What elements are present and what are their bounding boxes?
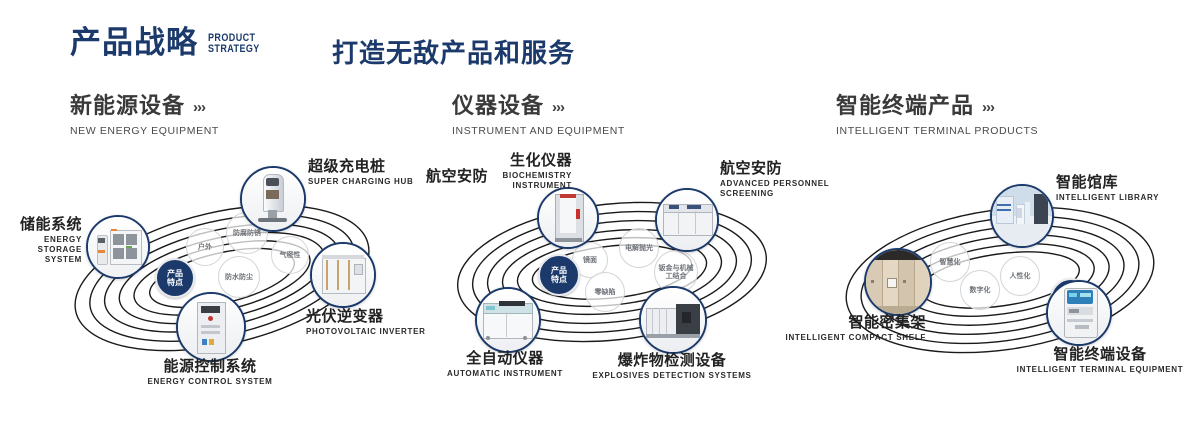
infographic-canvas: 产品战略 PRODUCT STRATEGY 打造无敌产品和服务 新能源设备 ››… (0, 0, 1200, 422)
node-automatic-instrument[interactable] (475, 287, 541, 353)
section-heading-instrument: 仪器设备 ››› INSTRUMENT AND EQUIPMENT (452, 96, 625, 137)
page-title-cn: 产品战略 (70, 28, 198, 59)
node-explosives-detector[interactable] (639, 286, 707, 354)
feature-bubble: 人性化 (1000, 256, 1040, 296)
label-compact-shelf: 智能密集架 INTELLIGENT COMPACT SHELF (766, 314, 926, 343)
label-explosives-detector: 爆炸物检测设备 EXPLOSIVES DETECTION SYSTEMS (582, 352, 762, 381)
product-feature-badge: 产品特点 (538, 254, 580, 296)
node-biochemistry-instrument[interactable] (537, 187, 599, 249)
page-subtitle: 打造无敌产品和服务 (332, 33, 575, 70)
page-title: 产品战略 PRODUCT STRATEGY (70, 28, 271, 59)
node-advanced-personnel-screening[interactable] (655, 188, 719, 252)
section-title-en: INSTRUMENT AND EQUIPMENT (452, 125, 625, 137)
chevrons-icon: ››› (552, 99, 564, 116)
label-terminal-kiosk: 智能终端设备 INTELLIGENT TERMINAL EQUIPMENT (1000, 346, 1200, 375)
page-title-en-line2: STRATEGY (208, 44, 260, 56)
node-energy-control[interactable] (176, 292, 246, 362)
node-terminal-kiosk[interactable] (1046, 280, 1112, 346)
page-title-en: PRODUCT STRATEGY (208, 33, 260, 59)
page-title-en-line1: PRODUCT (208, 33, 260, 45)
cluster-instrument: 镜面 电解抛光 零缺陷 钣金与机械工结合 产品特点 生化仪器 BIOCHEMIS… (420, 150, 820, 420)
label-automatic-instrument: 全自动仪器 AUTOMATIC INSTRUMENT (415, 350, 595, 379)
section-title-cn: 智能终端产品 (836, 96, 974, 118)
cluster-intelligent-terminal: 智慧化 数字化 人性化 产品特点 智能馆库 INTELLIGENT LIBRAR… (810, 150, 1200, 420)
feature-bubble: 电解抛光 (619, 228, 659, 268)
section-title-en: NEW ENERGY EQUIPMENT (70, 125, 219, 137)
feature-bubble: 防水防尘 (218, 256, 260, 298)
product-feature-badge: 产品特点 (155, 258, 195, 298)
node-pv-inverter[interactable] (310, 242, 376, 308)
label-intelligent-library: 智能馆库 INTELLIGENT LIBRARY (1056, 174, 1196, 203)
section-title-en: INTELLIGENT TERMINAL PRODUCTS (836, 125, 1038, 137)
node-intelligent-library[interactable] (990, 184, 1054, 248)
feature-bubble: 户外 (186, 228, 224, 266)
chevrons-icon: ››› (193, 99, 205, 116)
section-title-cn: 新能源设备 (70, 96, 185, 118)
feature-bubble: 数字化 (960, 270, 1000, 310)
chevrons-icon: ››› (982, 99, 994, 116)
node-compact-shelf[interactable] (864, 248, 932, 316)
node-charging-pile[interactable] (240, 166, 306, 232)
label-aviation-security-left: 航空安防 (398, 168, 488, 185)
section-title-cn: 仪器设备 (452, 96, 544, 118)
feature-bubble: 零缺陷 (585, 272, 625, 312)
cluster-new-energy: 户外 防腐防锈 防水防尘 气密性 产品特点 储能系统 ENERGY S (40, 150, 440, 420)
label-energy-storage: 储能系统 ENERGY STORAGE SYSTEM (0, 216, 82, 265)
feature-bubble: 气密性 (271, 236, 309, 274)
section-heading-new-energy: 新能源设备 ››› NEW ENERGY EQUIPMENT (70, 96, 219, 137)
section-heading-intelligent-terminal: 智能终端产品 ››› INTELLIGENT TERMINAL PRODUCTS (836, 96, 1038, 137)
label-energy-control: 能源控制系统 ENERGY CONTROL SYSTEM (110, 358, 310, 387)
node-energy-storage[interactable] (86, 215, 150, 279)
